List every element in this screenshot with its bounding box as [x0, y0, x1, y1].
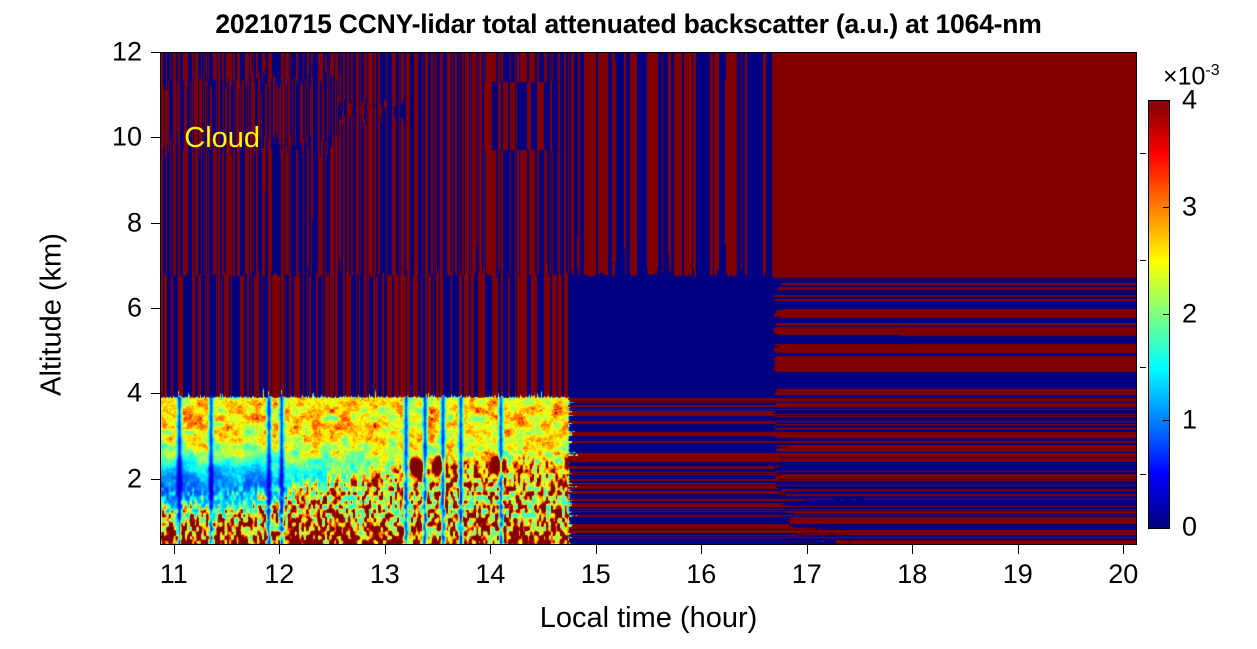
lidar-figure: 20210715 CCNY-lidar total attenuated bac… — [0, 0, 1257, 649]
colorbar-tick-label: 4 — [1182, 85, 1197, 116]
plot-axes — [160, 52, 1137, 545]
colorbar-tick-label: 1 — [1182, 405, 1197, 436]
colorbar-minor-tick-mark — [1140, 367, 1146, 368]
x-tick-mark — [490, 545, 491, 554]
y-axis-label: Altitude (km) — [36, 195, 69, 435]
x-tick-mark — [174, 545, 175, 554]
y-tick-mark — [151, 308, 160, 309]
x-tick-mark — [807, 545, 808, 554]
colorbar-tick-mark — [1163, 420, 1169, 421]
x-tick-mark — [701, 545, 702, 554]
x-tick-mark — [279, 545, 280, 554]
colorbar-minor-tick-mark — [1140, 474, 1146, 475]
x-tick-label: 16 — [686, 559, 716, 590]
x-tick-label: 18 — [897, 559, 927, 590]
y-tick-mark — [151, 479, 160, 480]
colorbar-tick-mark — [1163, 314, 1169, 315]
x-axis-label: Local time (hour) — [160, 602, 1137, 635]
x-tick-mark — [912, 545, 913, 554]
y-tick-mark — [151, 223, 160, 224]
x-tick-mark — [1123, 545, 1124, 554]
y-tick-label: 2 — [50, 463, 142, 494]
x-tick-label: 13 — [370, 559, 400, 590]
x-tick-label: 20 — [1108, 559, 1138, 590]
y-tick-label: 10 — [50, 122, 142, 153]
colorbar-tick-mark — [1163, 207, 1169, 208]
y-tick-mark — [151, 137, 160, 138]
colorbar-tick-label: 2 — [1182, 298, 1197, 329]
page-title: 20210715 CCNY-lidar total attenuated bac… — [0, 9, 1257, 40]
x-tick-mark — [1018, 545, 1019, 554]
cloud-annotation: Cloud — [184, 124, 260, 153]
x-tick-label: 17 — [792, 559, 822, 590]
colorbar-gradient — [1149, 101, 1169, 528]
colorbar-tick-label: 0 — [1182, 512, 1197, 543]
y-tick-mark — [151, 52, 160, 53]
x-tick-mark — [385, 545, 386, 554]
x-tick-mark — [596, 545, 597, 554]
colorbar-minor-tick-mark — [1140, 260, 1146, 261]
colorbar — [1148, 100, 1170, 529]
x-tick-label: 15 — [581, 559, 611, 590]
backscatter-heatmap — [160, 52, 1137, 545]
y-tick-mark — [151, 393, 160, 394]
x-tick-label: 12 — [264, 559, 294, 590]
colorbar-minor-tick-mark — [1140, 153, 1146, 154]
x-tick-label: 11 — [160, 559, 188, 590]
colorbar-exponent-power: -3 — [1205, 62, 1219, 79]
x-tick-label: 14 — [475, 559, 505, 590]
colorbar-tick-label: 3 — [1182, 191, 1197, 222]
x-tick-label: 19 — [1003, 559, 1033, 590]
y-tick-label: 12 — [50, 37, 142, 68]
